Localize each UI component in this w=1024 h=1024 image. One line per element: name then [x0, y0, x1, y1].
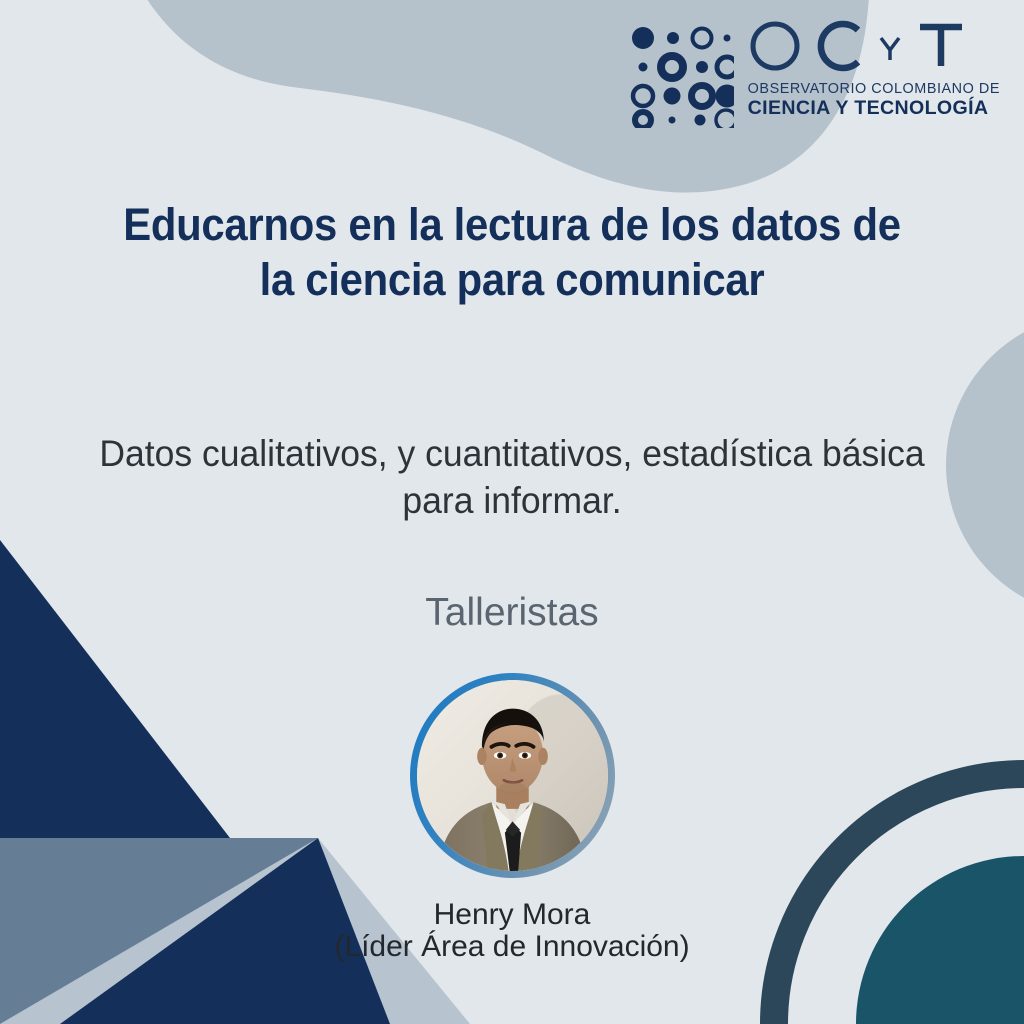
avatar-photo [417, 680, 608, 871]
speaker-name: Henry Mora [0, 897, 1024, 932]
main-content: Educarnos en la lectura de los datos de … [0, 0, 1024, 1024]
page-title: Educarnos en la lectura de los datos de … [101, 198, 923, 308]
poster-canvas: OBSERVATORIO COLOMBIANO DE CIENCIA Y TEC… [0, 0, 1024, 1024]
portrait-illustration [417, 680, 608, 871]
speaker-role: (Líder Área de Innovación) [0, 929, 1024, 964]
speakers-heading: Talleristas [0, 592, 1024, 635]
avatar [410, 673, 615, 878]
page-subtitle: Datos cualitativos, y cuantitativos, est… [97, 430, 926, 525]
